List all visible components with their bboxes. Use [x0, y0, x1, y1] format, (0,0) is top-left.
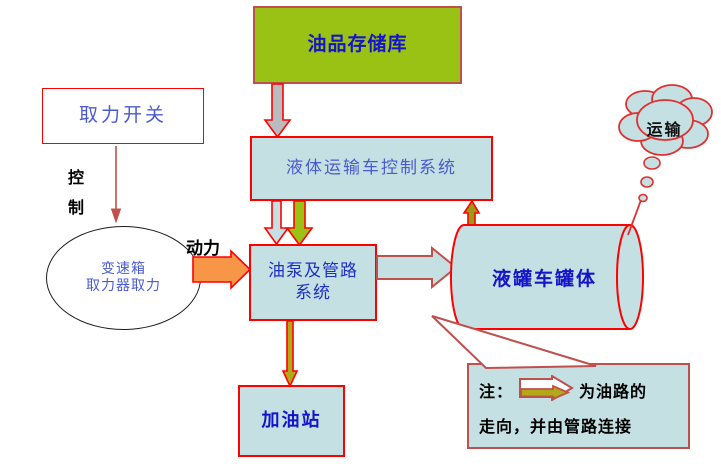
note-line-2: 走向，并由管路连接	[479, 413, 632, 437]
node-tank-body-label: 液罐车罐体	[452, 225, 637, 330]
note-box: 注： 为油路的 走向，并由管路连接	[467, 363, 690, 449]
node-oil-storage[interactable]: 油品存储库	[253, 6, 462, 84]
arrow-storage-to-control	[265, 84, 290, 137]
arrow-control-to-pump-right	[287, 201, 312, 245]
oil-route-arrow-icon	[518, 375, 574, 405]
node-gas-station[interactable]: 加油站	[238, 385, 345, 457]
note-prefix: 注：	[479, 378, 513, 402]
diagram-canvas: 油品存储库 液体运输车控制系统 取力开关 变速箱 取力器取力 油泵及管路 系统 …	[0, 0, 721, 464]
node-pto-switch[interactable]: 取力开关	[42, 88, 204, 144]
arrow-pump-to-gas-station	[283, 321, 297, 386]
node-pump-and-pipeline-label: 油泵及管路 系统	[268, 261, 358, 304]
arrow-control-to-pump-left	[265, 201, 288, 244]
edge-label-control: 控制	[68, 163, 88, 223]
arrow-pto-switch-to-gearbox	[112, 146, 121, 222]
node-tank-body[interactable]: 液罐车罐体	[452, 225, 652, 330]
node-oil-storage-label: 油品存储库	[307, 33, 407, 57]
node-control-system[interactable]: 液体运输车控制系统	[250, 136, 493, 201]
edge-label-power: 动力	[186, 234, 220, 259]
node-pump-and-pipeline[interactable]: 油泵及管路 系统	[249, 244, 377, 321]
node-pto-switch-label: 取力开关	[79, 104, 167, 128]
note-line-1: 注： 为油路的	[479, 375, 647, 405]
node-gas-station-label: 加油站	[262, 410, 322, 433]
arrow-pump-to-tank	[377, 248, 456, 287]
node-transport-thought[interactable]: 运输	[612, 86, 717, 176]
note-line-1-suffix: 为油路的	[579, 378, 647, 402]
node-transport-thought-label: 运输	[612, 86, 717, 170]
node-gearbox-pto-label: 变速箱 取力器取力	[86, 261, 161, 296]
node-control-system-label: 液体运输车控制系统	[286, 158, 457, 179]
node-gearbox-pto[interactable]: 变速箱 取力器取力	[46, 226, 201, 330]
